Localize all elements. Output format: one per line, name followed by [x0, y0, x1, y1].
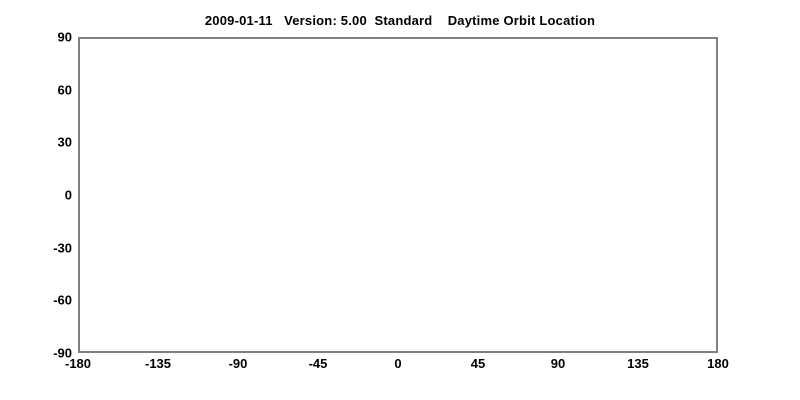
y-tick-90: 90	[58, 30, 72, 45]
x-tick-neg90: -90	[229, 356, 248, 371]
y-tick-0: 0	[65, 188, 72, 203]
plot-frame	[78, 37, 718, 353]
x-tick-neg45: -45	[309, 356, 328, 371]
x-tick-90: 90	[551, 356, 565, 371]
x-tick-neg180: -180	[65, 356, 91, 371]
x-tick-45: 45	[471, 356, 485, 371]
y-tick-neg60: -60	[53, 293, 72, 308]
plot-area	[78, 37, 718, 353]
x-tick-135: 135	[627, 356, 649, 371]
orbit-location-chart: 2009-01-11 Version: 5.00 Standard Daytim…	[0, 0, 800, 400]
y-tick-30: 30	[58, 135, 72, 150]
x-axis-tick-labels: -180-135-90-4504590135180	[78, 356, 718, 376]
x-tick-180: 180	[707, 356, 729, 371]
y-tick-60: 60	[58, 82, 72, 97]
page-title: 2009-01-11 Version: 5.00 Standard Daytim…	[0, 13, 800, 28]
y-axis-tick-labels: 9060300-30-60-90	[0, 37, 72, 353]
x-tick-neg135: -135	[145, 356, 171, 371]
x-tick-0: 0	[394, 356, 401, 371]
y-tick-neg30: -30	[53, 240, 72, 255]
